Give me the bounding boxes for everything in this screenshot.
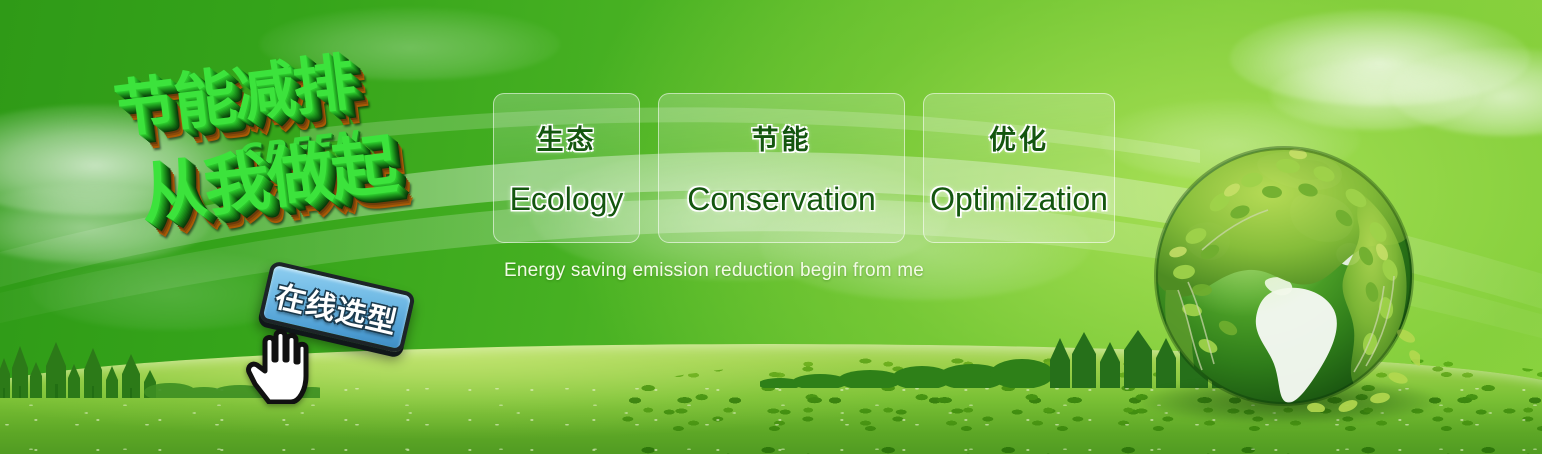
feature-card-optimization[interactable]: 优化 Optimization [923, 93, 1115, 243]
feature-card-title-en: Ecology [510, 181, 624, 218]
feature-card-title-zh: 生态 [537, 118, 597, 157]
leaf-covered-globe-icon [1148, 140, 1420, 412]
feature-card-conservation[interactable]: 节能 Conservation [658, 93, 905, 243]
feature-card-title-en: Conservation [687, 181, 876, 218]
feature-card-title-zh: 节能 [752, 118, 812, 157]
feature-card-ecology[interactable]: 生态 Ecology [493, 93, 640, 243]
energy-saving-banner: 节能减排 GREEN 从我做起 在线选型 生态 Ecology 节能 Conse… [0, 0, 1542, 454]
feature-card-title-en: Optimization [930, 181, 1108, 218]
feature-card-title-zh: 优化 [989, 118, 1049, 157]
headline-graphic: 节能减排 GREEN 从我做起 [96, 34, 496, 274]
feature-card-list: 生态 Ecology 节能 Conservation 优化 Optimizati… [493, 93, 1115, 243]
banner-tagline: Energy saving emission reduction begin f… [504, 260, 924, 282]
